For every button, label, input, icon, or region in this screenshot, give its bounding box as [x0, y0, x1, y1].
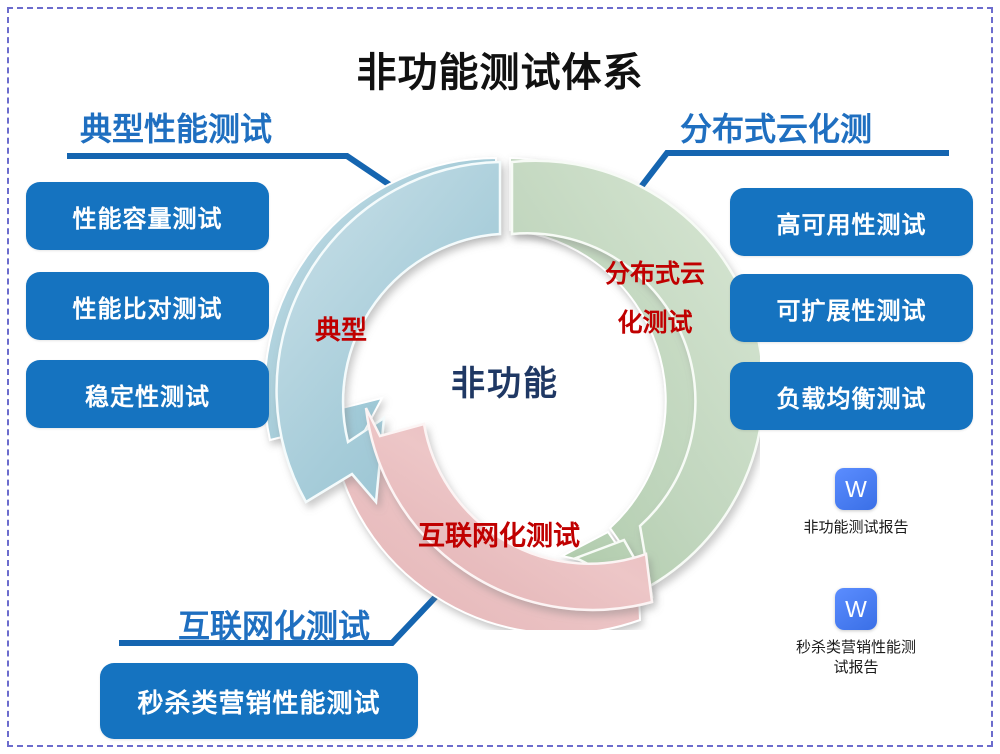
- word-doc-glyph: W: [845, 478, 867, 501]
- document-item-1[interactable]: W 秒杀类营销性能测 试报告: [766, 588, 946, 679]
- word-doc-icon: W: [835, 588, 877, 630]
- slide-canvas: 非功能测试体系: [0, 0, 1000, 754]
- donut-label-internet: 互联网化测试: [404, 512, 594, 562]
- section-label-left: 典型性能测试: [80, 104, 272, 150]
- section-label-right: 分布式云化测: [680, 104, 872, 150]
- word-doc-glyph: W: [845, 598, 867, 621]
- section-label-bottom: 互联网化测试: [178, 601, 370, 647]
- left-item-1[interactable]: 性能比对测试: [26, 272, 269, 340]
- donut-label-typical: 典型: [296, 306, 386, 354]
- word-doc-icon: W: [835, 468, 877, 510]
- document-item-0[interactable]: W 非功能测试报告: [766, 468, 946, 538]
- left-item-2[interactable]: 稳定性测试: [26, 360, 269, 428]
- left-item-0[interactable]: 性能容量测试: [26, 182, 269, 250]
- right-item-1[interactable]: 可扩展性测试: [730, 274, 973, 342]
- right-item-0[interactable]: 高可用性测试: [730, 188, 973, 256]
- donut-label-cloud: 分布式云化测试: [603, 250, 707, 348]
- document-label-0: 非功能测试报告: [766, 518, 946, 538]
- bottom-item-0[interactable]: 秒杀类营销性能测试: [100, 663, 418, 739]
- right-item-2[interactable]: 负载均衡测试: [730, 362, 973, 430]
- donut-center-label: 非功能: [410, 356, 600, 405]
- document-label-1: 秒杀类营销性能测 试报告: [766, 638, 946, 679]
